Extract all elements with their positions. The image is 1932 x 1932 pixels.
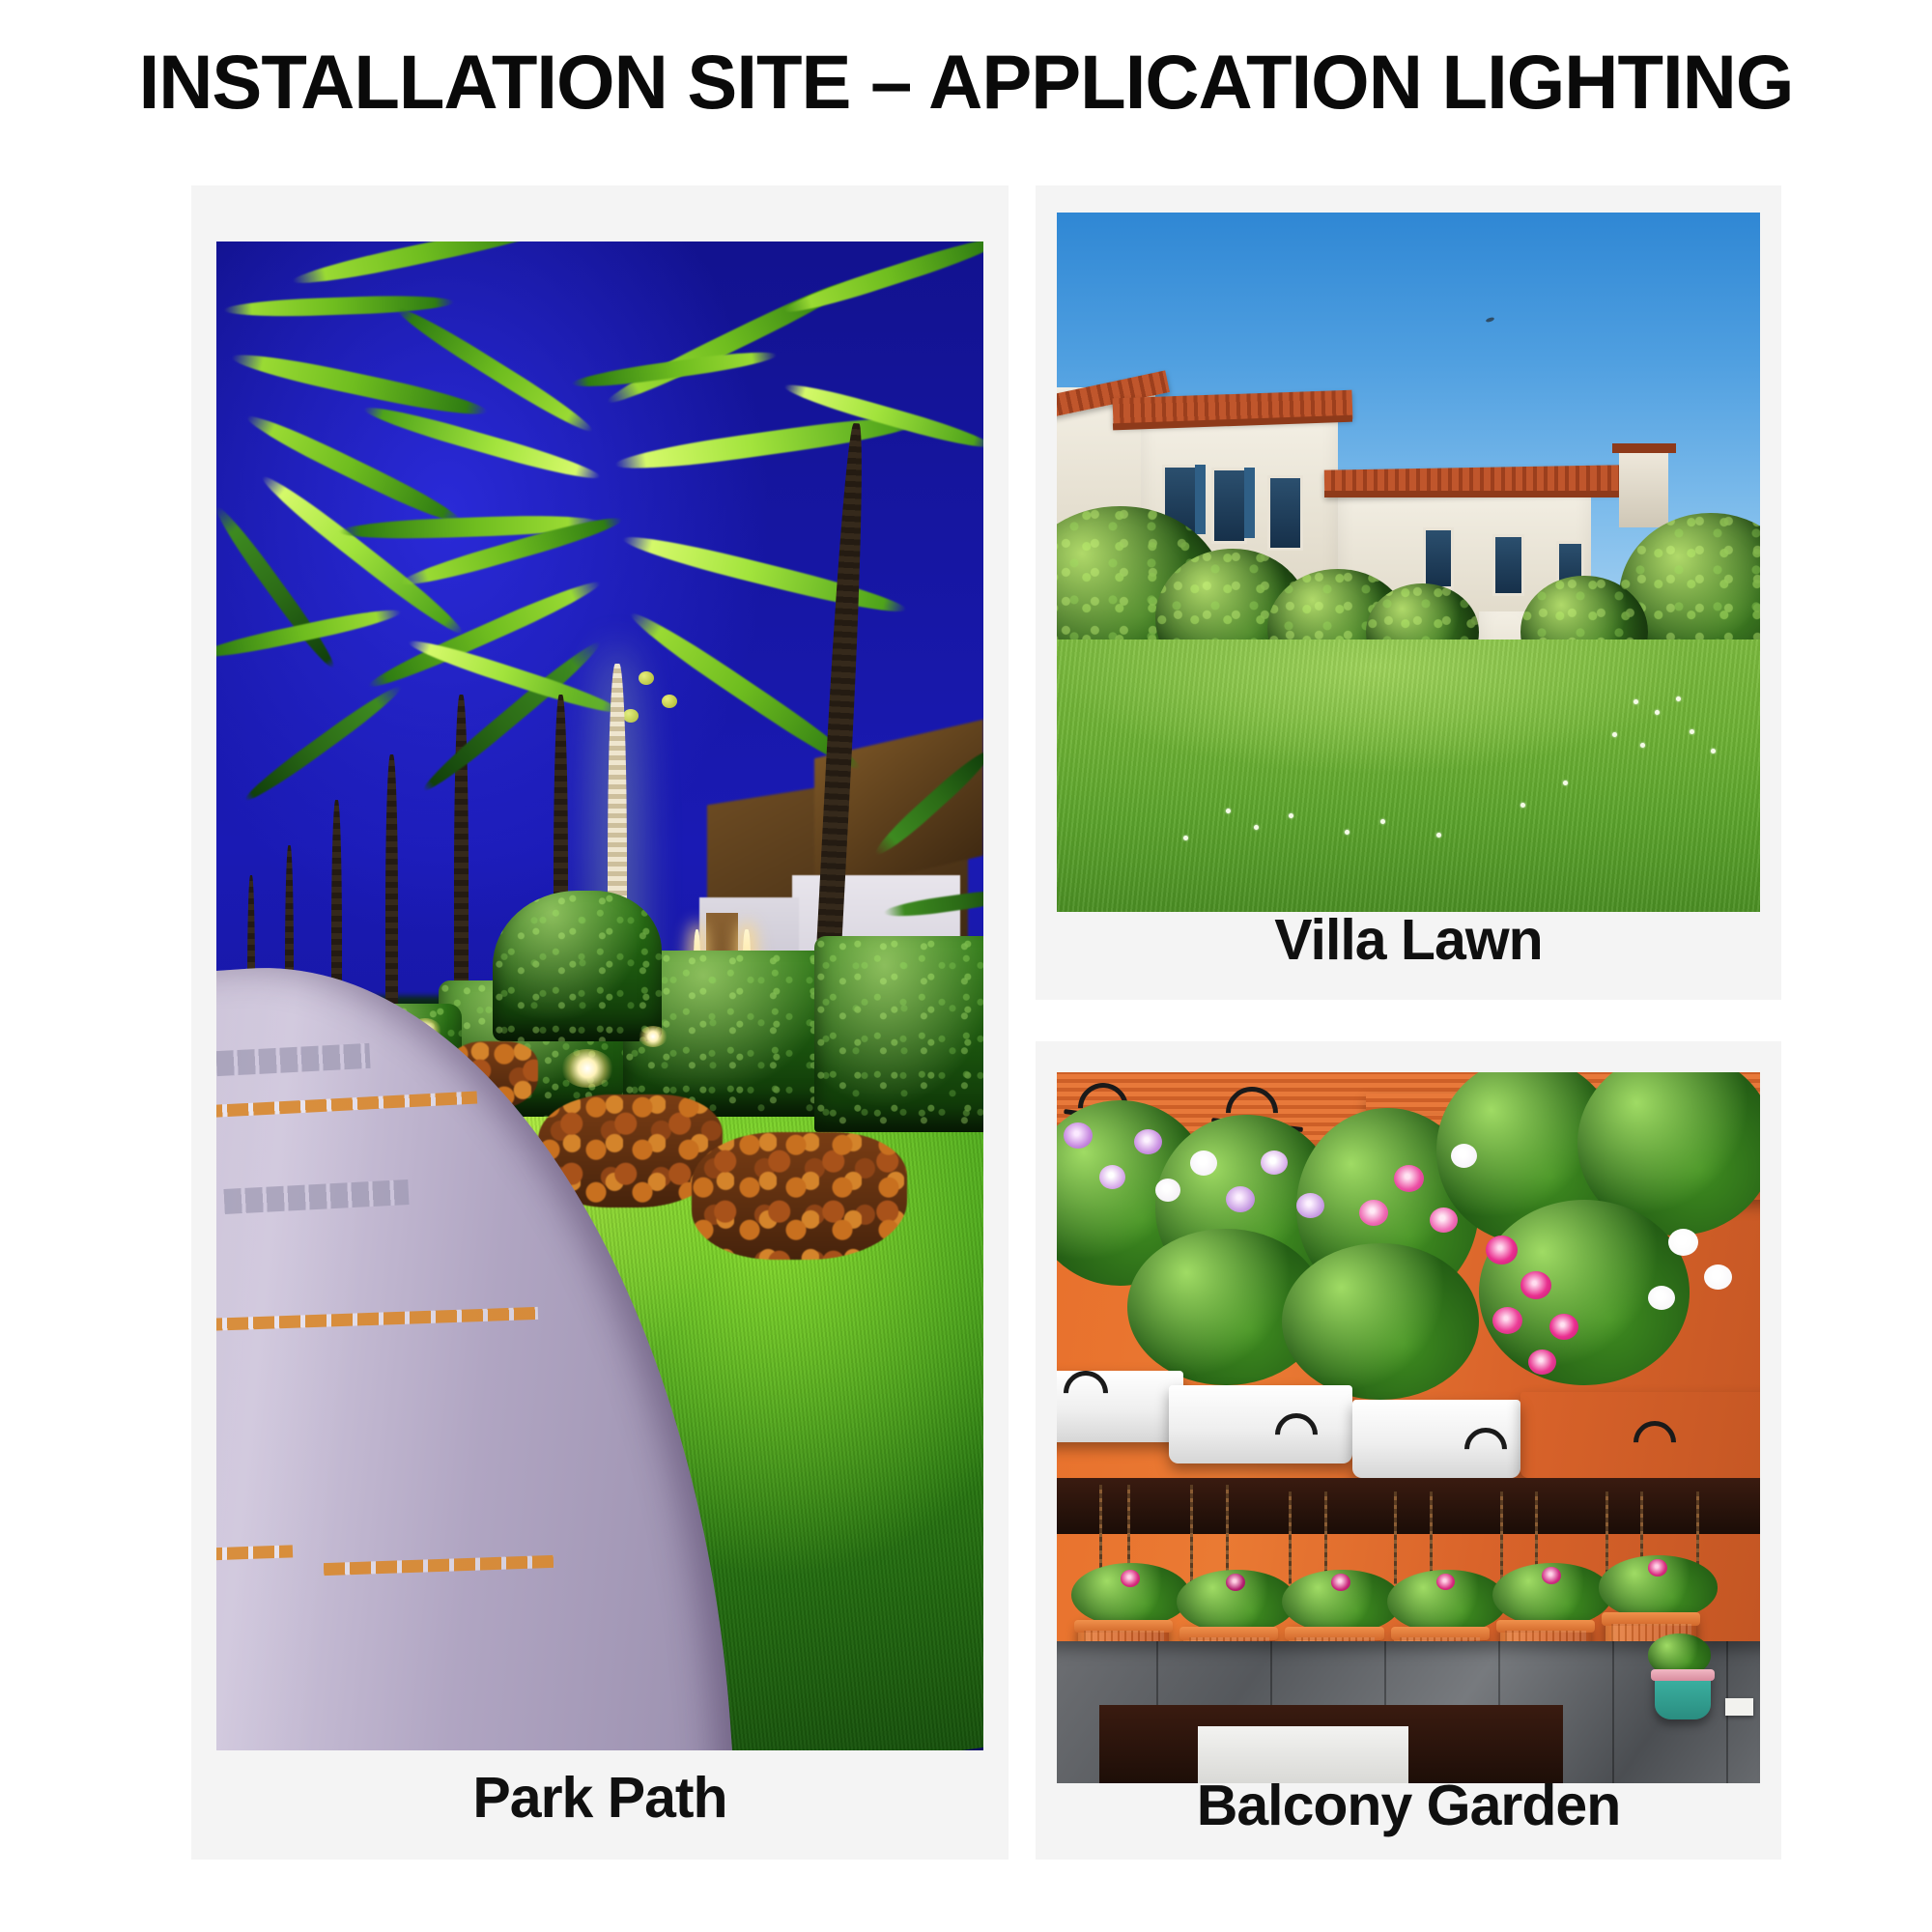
uplight-lamp-3	[639, 1026, 668, 1047]
foliage-upper-8	[1282, 1243, 1479, 1400]
flower-pink-8	[1528, 1350, 1556, 1375]
hanging-chain-3	[1190, 1485, 1193, 1584]
shrub-cluster	[493, 891, 662, 1041]
balcony-underledge	[1057, 1478, 1760, 1535]
hanging-chain-5	[1289, 1492, 1292, 1584]
hanging-chain-7	[1394, 1492, 1397, 1584]
flower-white-6	[1648, 1286, 1675, 1310]
hanging-chain-9	[1500, 1492, 1503, 1584]
geranium-4	[1436, 1574, 1455, 1590]
photo-villa-lawn	[1057, 213, 1760, 912]
flower-lilac-4	[1226, 1186, 1255, 1212]
villa-window-5	[1492, 534, 1523, 596]
caption-park-path: Park Path	[191, 1765, 1009, 1831]
card-park-path[interactable]: Park Path	[191, 185, 1009, 1860]
flower-lilac-6	[1296, 1193, 1324, 1218]
uplight-lamp-1	[561, 1049, 613, 1088]
lawn-texture	[1057, 639, 1760, 912]
villa-chimney	[1619, 450, 1668, 527]
flower-bed-2	[692, 1132, 906, 1261]
caption-balcony-garden: Balcony Garden	[1036, 1773, 1781, 1838]
villa-window-2	[1211, 468, 1247, 543]
flower-pink-6	[1492, 1307, 1522, 1334]
plant-tag	[1725, 1698, 1753, 1716]
coconut-2	[662, 695, 677, 708]
geranium-3	[1331, 1574, 1350, 1591]
villa-shutter-1	[1195, 465, 1207, 534]
villa-window-3	[1267, 475, 1303, 551]
coconut-3	[623, 709, 639, 723]
flower-lilac-5	[1261, 1151, 1288, 1175]
flower-pink-3	[1430, 1207, 1458, 1233]
villa-shutter-2	[1244, 468, 1256, 537]
front-lawn	[1057, 639, 1760, 912]
photo-balcony-garden	[1057, 1072, 1760, 1783]
bucket-planter[interactable]	[1655, 1669, 1711, 1719]
flower-white-3	[1451, 1144, 1477, 1168]
flower-lilac-3	[1134, 1129, 1162, 1154]
flower-lilac-2	[1099, 1165, 1125, 1189]
hedge-3	[814, 936, 983, 1132]
geranium-5	[1542, 1567, 1561, 1584]
photo-park-path	[216, 241, 983, 1750]
villa-chimney-cap	[1612, 443, 1676, 453]
geranium-6	[1648, 1559, 1667, 1577]
flower-pink-2	[1394, 1165, 1424, 1192]
planter-white-2	[1169, 1385, 1351, 1463]
card-villa-lawn[interactable]: Villa Lawn	[1036, 185, 1781, 1000]
card-balcony-garden[interactable]: Balcony Garden	[1036, 1041, 1781, 1860]
caption-villa-lawn: Villa Lawn	[1036, 907, 1781, 973]
flower-white-5	[1704, 1264, 1732, 1290]
flower-pink-7	[1549, 1314, 1578, 1340]
page-title: INSTALLATION SITE – APPLICATION LIGHTING	[14, 37, 1918, 128]
geranium-1	[1121, 1570, 1140, 1587]
villa-roof-wing-eave	[1324, 491, 1620, 497]
coconut-1	[639, 671, 654, 685]
villa-window-4	[1423, 527, 1454, 589]
flower-lilac-1	[1064, 1122, 1093, 1149]
geranium-2	[1226, 1574, 1245, 1591]
